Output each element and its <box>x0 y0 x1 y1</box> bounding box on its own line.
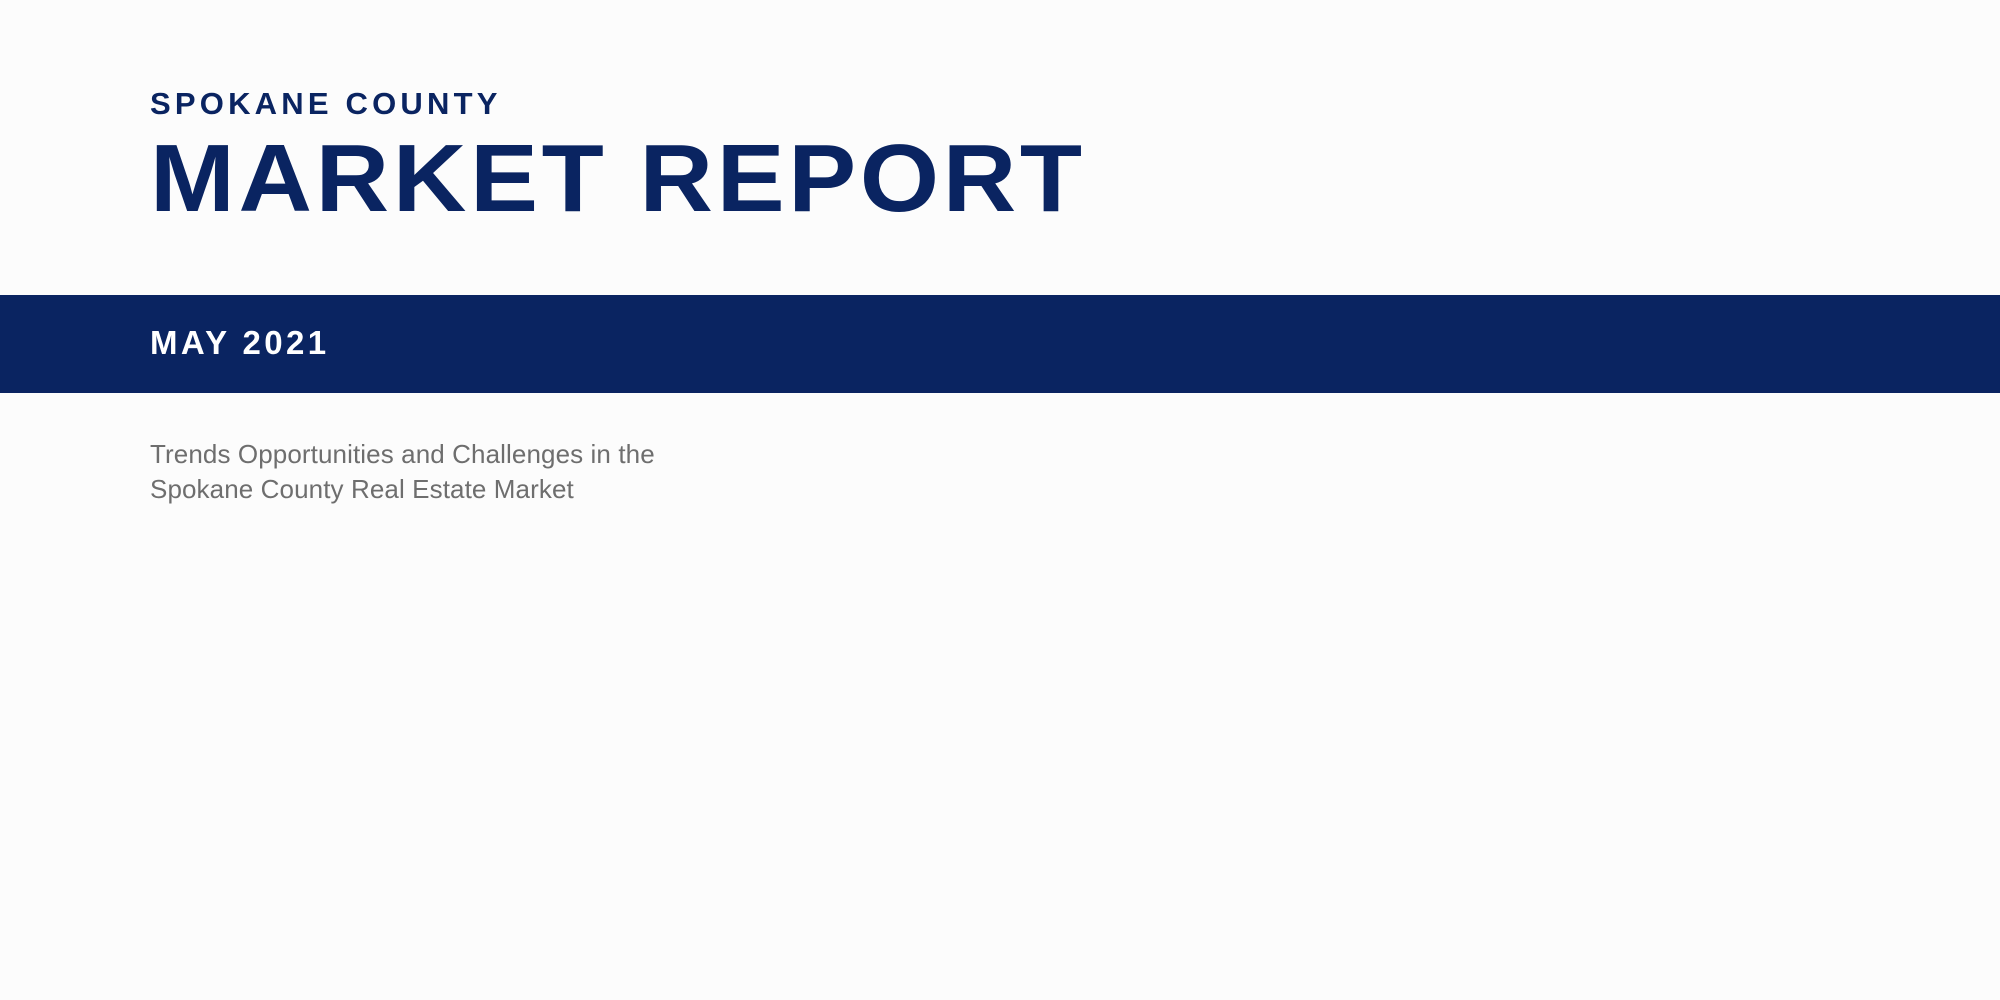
wave-line <box>0 725 2000 791</box>
wave-line <box>0 836 2000 934</box>
wave-line <box>0 735 2000 801</box>
page-title: MARKET REPORT <box>150 131 1740 227</box>
wave-line <box>0 509 2000 607</box>
header-block: SPOKANE COUNTY MARKET REPORT <box>150 88 1650 227</box>
wave-line <box>0 549 2000 640</box>
wave-line <box>0 719 2000 786</box>
wave-line <box>0 809 2000 898</box>
subtitle-block: Trends Opportunities and Challenges in t… <box>150 437 655 507</box>
wave-line <box>0 628 2000 707</box>
wave-line <box>0 588 2000 673</box>
report-date-label: MAY 2021 <box>150 326 330 359</box>
wave-line <box>0 595 2000 679</box>
subtitle-line-1: Trends Opportunities and Challenges in t… <box>150 437 655 472</box>
wave-line <box>0 582 2000 668</box>
wave-line <box>0 693 2000 763</box>
wave-line <box>0 813 2000 904</box>
wave-line <box>0 621 2000 701</box>
abstract-wave-graphic <box>0 440 2000 1000</box>
subtitle-line-2: Spokane County Real Estate Market <box>150 472 655 507</box>
report-cover-page: SPOKANE COUNTY MARKET REPORT MAY 2021 Tr… <box>0 0 2000 1000</box>
wave-line <box>0 706 2000 774</box>
date-band: MAY 2021 <box>0 295 2000 393</box>
wave-line <box>0 841 2000 940</box>
wave-line <box>0 822 2000 916</box>
eyebrow-text: SPOKANE COUNTY <box>150 88 1650 119</box>
wave-line <box>0 555 2000 645</box>
wave-line <box>0 744 2000 813</box>
